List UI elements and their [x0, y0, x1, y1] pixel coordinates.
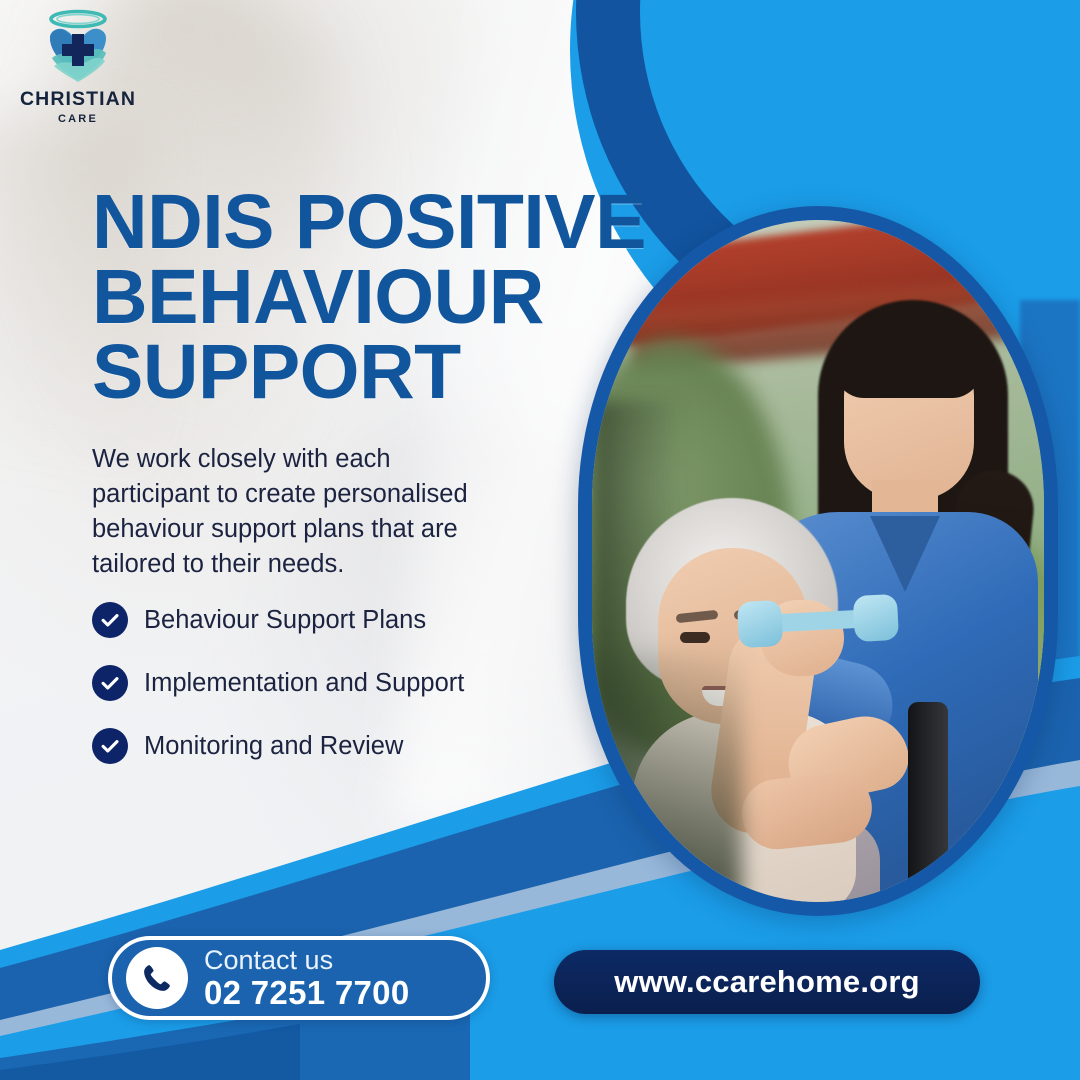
brand-name: CHRISTIAN [14, 90, 142, 110]
contact-label: Contact us [204, 946, 409, 974]
feature-label: Implementation and Support [144, 669, 464, 698]
brand-sub: CARE [14, 113, 142, 125]
feature-list: Behaviour Support Plans Implementation a… [92, 602, 464, 791]
brand-logo[interactable]: CHRISTIAN CARE [14, 8, 142, 125]
page-title: NDIS POSITIVE BEHAVIOUR SUPPORT [92, 185, 772, 411]
check-circle-icon [92, 665, 128, 701]
website-button[interactable]: www.ccarehome.org [554, 950, 980, 1014]
headline-line-3: SUPPORT [92, 335, 772, 410]
check-circle-icon [92, 602, 128, 638]
phone-icon [126, 947, 188, 1009]
list-item: Behaviour Support Plans [92, 602, 464, 638]
heart-hands-cross-halo-icon [30, 8, 126, 88]
intro-paragraph: We work closely with each participant to… [92, 442, 492, 583]
list-item: Monitoring and Review [92, 728, 464, 764]
contact-button[interactable]: Contact us 02 7251 7700 [108, 936, 490, 1020]
headline-line-1: NDIS POSITIVE [92, 185, 772, 260]
list-item: Implementation and Support [92, 665, 464, 701]
poster-canvas: CHRISTIAN CARE NDIS POSITIVE BEHAVIOUR S… [0, 0, 1080, 1080]
feature-label: Monitoring and Review [144, 732, 403, 761]
check-circle-icon [92, 728, 128, 764]
feature-label: Behaviour Support Plans [144, 606, 426, 635]
headline-line-2: BEHAVIOUR [92, 260, 772, 335]
website-url[interactable]: www.ccarehome.org [614, 964, 919, 1000]
contact-number[interactable]: 02 7251 7700 [204, 976, 409, 1011]
